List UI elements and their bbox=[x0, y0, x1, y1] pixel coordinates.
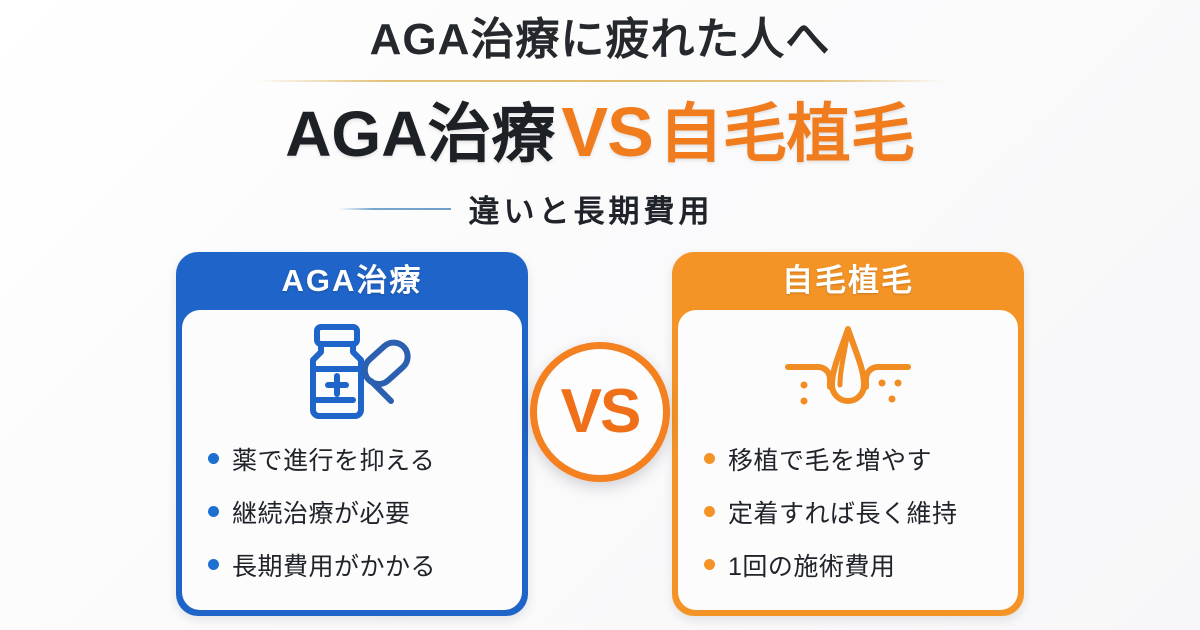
subtitle-rule-right bbox=[732, 208, 862, 210]
list-item: 1回の施術費用 bbox=[704, 538, 1018, 591]
card-body-transplant: 移植で毛を増やす 定着すれば長く維持 1回の施術費用 bbox=[678, 310, 1018, 610]
list-item: 長期費用がかかる bbox=[208, 538, 522, 591]
bullet-text: 長期費用がかかる bbox=[232, 547, 436, 583]
bullet-text: 定着すれば長く維持 bbox=[728, 494, 958, 530]
card-body-aga: 薬で進行を抑える 継続治療が必要 長期費用がかかる bbox=[182, 310, 522, 610]
comparison-card-transplant: 自毛植毛 移植で毛を増やす 定着すれば長く維持 1回の施術費用 bbox=[672, 252, 1024, 616]
bullet-text: 継続治療が必要 bbox=[232, 494, 411, 530]
hair-follicle-icon bbox=[678, 310, 1018, 432]
vs-badge-label: VS bbox=[561, 381, 640, 443]
bullet-text: 移植で毛を増やす bbox=[728, 441, 932, 477]
bullet-dot-icon bbox=[704, 453, 715, 464]
bullet-text: 薬で進行を抑える bbox=[232, 441, 435, 477]
pill-bottle-icon bbox=[182, 310, 522, 432]
list-item: 定着すれば長く維持 bbox=[704, 485, 1018, 538]
list-item: 薬で進行を抑える bbox=[208, 432, 522, 485]
bullet-dot-icon bbox=[704, 506, 715, 517]
headline-left-term: AGA治療 bbox=[285, 98, 555, 170]
vs-badge: VS bbox=[530, 342, 670, 482]
page-subtitle: 違いと長期費用 bbox=[469, 186, 714, 231]
headline-right-term: 自毛植毛 bbox=[659, 98, 915, 170]
card-title-aga: AGA治療 bbox=[176, 252, 528, 310]
bullet-list-aga: 薬で進行を抑える 継続治療が必要 長期費用がかかる bbox=[182, 432, 522, 591]
card-title-transplant: 自毛植毛 bbox=[672, 252, 1024, 310]
subtitle-rule-left bbox=[339, 208, 451, 210]
bullet-dot-icon bbox=[208, 559, 219, 570]
comparison-card-aga: AGA治療 薬で進行を抑える 継続治療が必要 長期費用がかかる bbox=[176, 252, 528, 616]
subtitle-row: 違いと長期費用 bbox=[0, 186, 1200, 231]
infographic-canvas: AGA治療に疲れた人へ AGA治療VS自毛植毛 違いと長期費用 AGA治療 bbox=[0, 0, 1200, 630]
bullet-dot-icon bbox=[208, 506, 219, 517]
bullet-dot-icon bbox=[704, 559, 715, 570]
page-title: AGA治療VS自毛植毛 bbox=[0, 92, 1200, 173]
bullet-text: 1回の施術費用 bbox=[728, 547, 895, 583]
eyebrow-divider bbox=[255, 80, 945, 82]
list-item: 継続治療が必要 bbox=[208, 485, 522, 538]
list-item: 移植で毛を増やす bbox=[704, 432, 1018, 485]
bullet-dot-icon bbox=[208, 453, 219, 464]
eyebrow-text: AGA治療に疲れた人へ bbox=[0, 14, 1200, 67]
bullet-list-transplant: 移植で毛を増やす 定着すれば長く維持 1回の施術費用 bbox=[678, 432, 1018, 591]
headline-vs: VS bbox=[555, 93, 658, 171]
